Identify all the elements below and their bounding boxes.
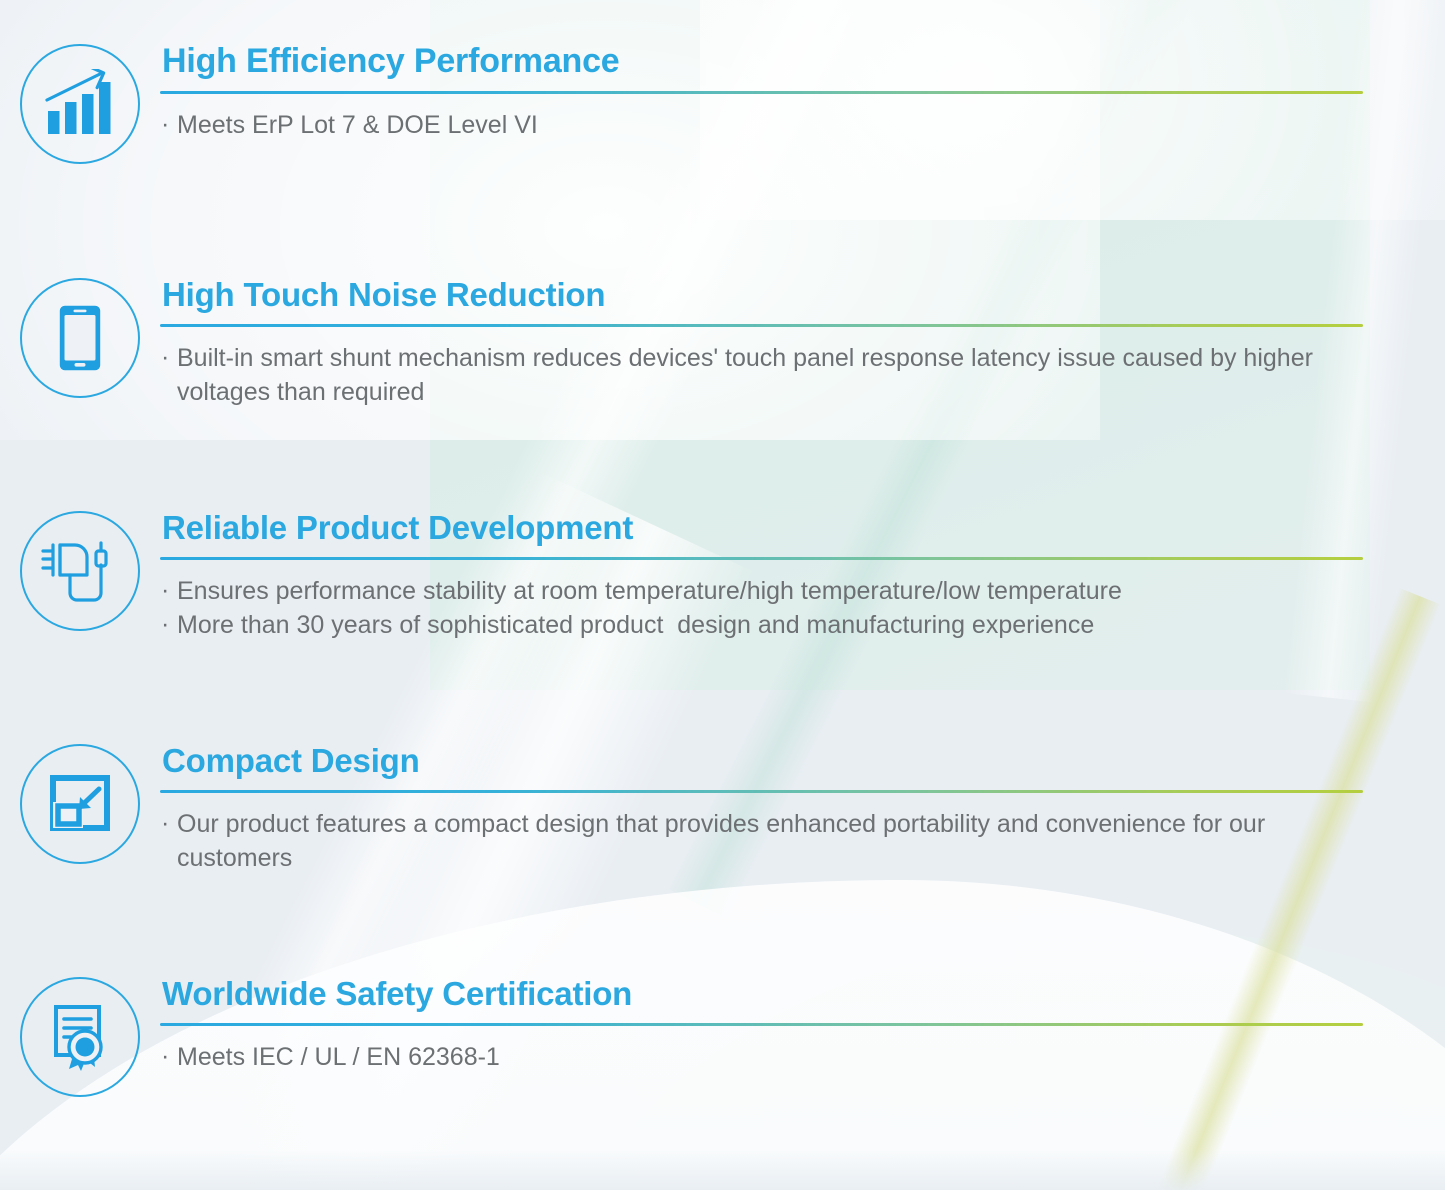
feature-title: Reliable Product Development xyxy=(160,511,1363,544)
feature-bullet: Meets IEC / UL / EN 62368-1 xyxy=(160,1040,1363,1074)
feature-divider xyxy=(160,1023,1363,1026)
feature-divider xyxy=(160,790,1363,793)
feature-item-compact-design: Compact Design Our product features a co… xyxy=(0,744,1445,875)
feature-title: High Efficiency Performance xyxy=(160,44,1363,78)
feature-highlights-page: High Efficiency Performance Meets ErP Lo… xyxy=(0,0,1445,1190)
feature-icon-wrap xyxy=(0,278,160,398)
feature-item-reliable-product-development: Reliable Product Development Ensures per… xyxy=(0,511,1445,642)
feature-divider xyxy=(160,557,1363,560)
power-adapter-icon xyxy=(40,535,120,607)
smartphone-icon xyxy=(58,304,102,372)
feature-icon-wrap xyxy=(0,977,160,1097)
feature-bullet-list: Ensures performance stability at room te… xyxy=(160,574,1363,642)
feature-icon-wrap xyxy=(0,511,160,631)
feature-divider xyxy=(160,324,1363,327)
feature-bullet-list: Our product features a compact design th… xyxy=(160,807,1363,875)
feature-bullet: Meets ErP Lot 7 & DOE Level VI xyxy=(160,108,1363,142)
feature-body: Worldwide Safety Certification Meets IEC… xyxy=(160,977,1445,1074)
feature-item-high-efficiency-performance: High Efficiency Performance Meets ErP Lo… xyxy=(0,44,1445,164)
feature-bullet: Ensures performance stability at room te… xyxy=(160,574,1363,608)
feature-title: High Touch Noise Reduction xyxy=(160,278,1363,311)
feature-bullet: Our product features a compact design th… xyxy=(160,807,1363,875)
feature-bullet-list: Meets ErP Lot 7 & DOE Level VI xyxy=(160,108,1363,142)
feature-title: Worldwide Safety Certification xyxy=(160,977,1363,1010)
feature-item-high-touch-noise-reduction: High Touch Noise Reduction Built-in smar… xyxy=(0,278,1445,409)
bar-chart-growth-icon xyxy=(43,69,117,139)
feature-body: Compact Design Our product features a co… xyxy=(160,744,1445,875)
feature-body: High Touch Noise Reduction Built-in smar… xyxy=(160,278,1445,409)
feature-bullet-list: Built-in smart shunt mechanism reduces d… xyxy=(160,341,1363,409)
icon-circle xyxy=(20,977,140,1097)
certificate-award-icon xyxy=(47,1003,113,1071)
feature-bullet: More than 30 years of sophisticated prod… xyxy=(160,608,1363,642)
feature-icon-wrap xyxy=(0,744,160,864)
feature-bullet: Built-in smart shunt mechanism reduces d… xyxy=(160,341,1363,409)
feature-item-worldwide-safety-certification: Worldwide Safety Certification Meets IEC… xyxy=(0,977,1445,1097)
icon-circle xyxy=(20,744,140,864)
feature-icon-wrap xyxy=(0,44,160,164)
feature-body: Reliable Product Development Ensures per… xyxy=(160,511,1445,642)
feature-title: Compact Design xyxy=(160,744,1363,777)
compact-resize-icon xyxy=(49,774,111,834)
icon-circle xyxy=(20,44,140,164)
feature-body: High Efficiency Performance Meets ErP Lo… xyxy=(160,44,1445,142)
feature-bullet-list: Meets IEC / UL / EN 62368-1 xyxy=(160,1040,1363,1074)
icon-circle xyxy=(20,278,140,398)
feature-divider xyxy=(160,91,1363,94)
icon-circle xyxy=(20,511,140,631)
